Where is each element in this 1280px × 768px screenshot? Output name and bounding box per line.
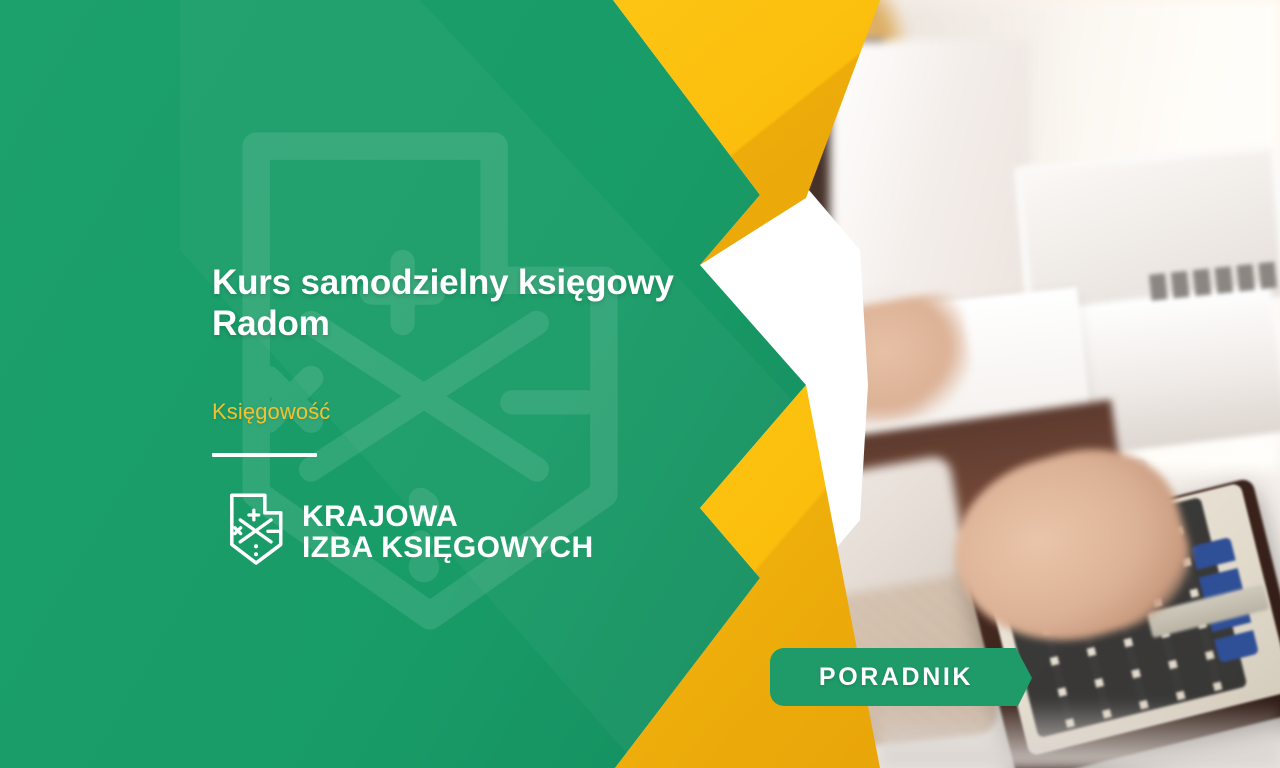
category-label: Księgowość xyxy=(212,399,732,425)
brand-logo-line2: IZBA KSIĘGOWYCH xyxy=(302,532,594,563)
brand-logo: KRAJOWA IZBA KSIĘGOWYCH xyxy=(212,487,732,578)
promo-banner: Kurs samodzielny księgowy Radom Księgowo… xyxy=(0,0,1280,768)
banner-content: Kurs samodzielny księgowy Radom Księgowo… xyxy=(212,262,732,578)
badge-label: PORADNIK xyxy=(770,648,1032,706)
page-title: Kurs samodzielny księgowy Radom xyxy=(212,262,727,345)
status-badge: PORADNIK xyxy=(770,648,1032,706)
brand-logo-wordmark: KRAJOWA IZBA KSIĘGOWYCH xyxy=(302,501,594,563)
brand-logo-line1: KRAJOWA xyxy=(302,501,594,532)
divider-rule xyxy=(212,453,317,457)
shield-math-symbols-icon xyxy=(212,487,286,578)
